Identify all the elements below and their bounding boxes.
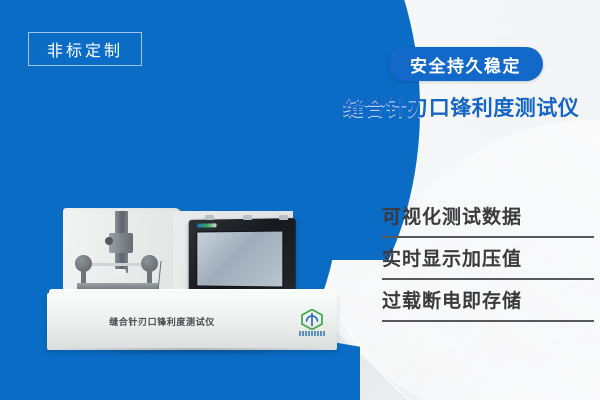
feature-item-3: 过载断电即存储 [382, 280, 594, 322]
feature-item-1: 可视化测试数据 [382, 196, 594, 238]
product-banner: 检测科技 检测科技 检测科技 非标定制 [0, 0, 600, 400]
tagline-label: 安全持久稳定 [410, 52, 521, 77]
machine-top-button-1[interactable] [205, 215, 214, 220]
machine-shadow [51, 348, 333, 356]
tagline-pill: 安全持久稳定 [388, 47, 543, 81]
machine-base-label: 缝合针刃口锋利度测试仪 [47, 315, 277, 328]
feature-label: 实时显示加压值 [382, 244, 594, 271]
logo-mark-icon [301, 309, 323, 330]
needle-sharpness-fixture [69, 211, 169, 297]
logo-wordmark [299, 331, 325, 336]
fixture-sensor-wire [157, 261, 161, 291]
hmi-display-area[interactable] [196, 230, 283, 287]
hmi-brand-strip [197, 223, 216, 227]
feature-label: 可视化测试数据 [382, 202, 594, 229]
badge-label: 非标定制 [47, 37, 123, 61]
machine-top-button-2[interactable] [243, 215, 252, 220]
fixture-head [109, 233, 133, 253]
feature-item-2: 实时显示加压值 [382, 238, 594, 280]
feature-divider [382, 320, 594, 322]
machine-top-button-3[interactable] [279, 215, 288, 220]
fixture-adjust-knob [105, 237, 113, 245]
non-standard-custom-badge[interactable]: 非标定制 [28, 32, 142, 66]
page-title: 缝合针刃口锋利度测试仪 [330, 92, 592, 122]
feature-list: 可视化测试数据 实时显示加压值 过载断电即存储 [382, 196, 594, 322]
hmi-touchscreen[interactable] [189, 218, 296, 298]
product-machine-image: 缝合针刃口锋利度测试仪 [47, 203, 337, 358]
feature-label: 过载断电即存储 [382, 286, 594, 313]
manufacturer-logo [299, 309, 325, 339]
fixture-sample-holder [113, 269, 126, 276]
